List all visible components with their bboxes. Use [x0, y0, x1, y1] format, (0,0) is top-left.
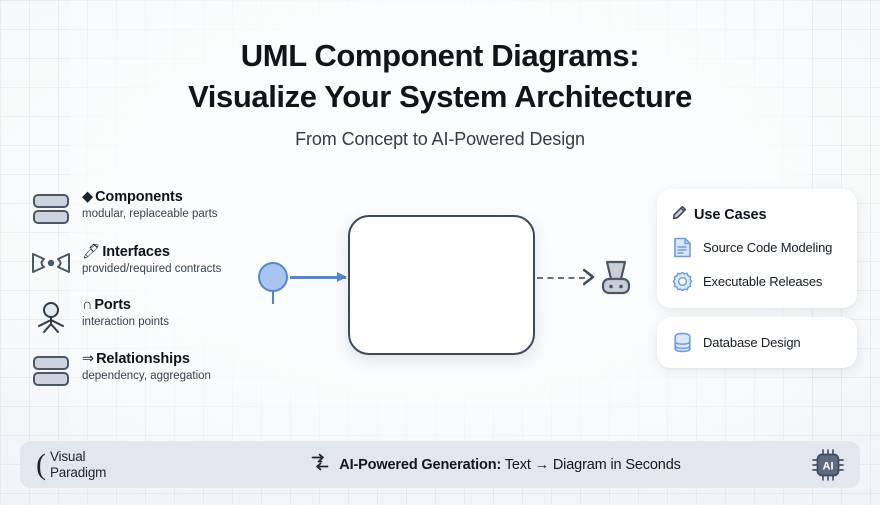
feature-body: 🖊Interfaces provided/required contracts: [82, 242, 221, 277]
feature-symbol: ◆: [82, 189, 93, 205]
feature-title-text: Ports: [94, 297, 131, 313]
component-stack-icon: [30, 188, 72, 226]
feature-symbol: ∩: [82, 297, 92, 313]
pen-icon: [672, 205, 687, 224]
feature-title: ⇒Relationships: [82, 351, 211, 367]
feature-desc: modular, replaceable parts: [82, 207, 218, 222]
feature-title: 🖊Interfaces: [82, 243, 221, 260]
dependency-arrowhead-icon: [583, 268, 595, 286]
page-title-line2: Visualize Your System Architecture: [0, 77, 880, 118]
bottom-bar-message: AI-Powered Generation: Text → Diagram in…: [181, 452, 810, 477]
use-cases-heading-text: Use Cases: [694, 207, 766, 223]
page-title-line1: UML Component Diagrams:: [0, 36, 880, 77]
bottom-bar-text-bold: AI-Powered Generation:: [339, 457, 501, 473]
feature-list: ◆Components modular, replaceable parts 🖊…: [30, 188, 260, 388]
feature-symbol: ⇒: [82, 351, 94, 367]
feature-title-text: Components: [95, 189, 183, 205]
database-icon: [672, 332, 693, 353]
feature-symbol: 🖊: [82, 244, 100, 260]
bottom-bar: ( Visual Paradigm AI-Powered Generation:…: [20, 441, 860, 488]
page-header: UML Component Diagrams: Visualize Your S…: [0, 36, 880, 150]
lollipop-stem: [272, 290, 274, 304]
database-design-card: Database Design: [657, 317, 857, 368]
page-subtitle: From Concept to AI-Powered Design: [0, 129, 880, 150]
component-diagram: [250, 200, 650, 385]
use-case-item-database-design[interactable]: Database Design: [672, 332, 842, 353]
use-case-label: Source Code Modeling: [703, 240, 832, 255]
feature-body: ◆Components modular, replaceable parts: [82, 188, 218, 222]
use-case-item-source-code-modeling[interactable]: Source Code Modeling: [672, 237, 842, 258]
logo-wordmark: Visual Paradigm: [50, 449, 106, 479]
logo-arc-icon: (: [36, 454, 46, 476]
feature-body: ⇒Relationships dependency, aggregation: [82, 350, 211, 384]
ball-socket-interface-icon: [30, 242, 72, 280]
use-case-item-executable-releases[interactable]: Executable Releases: [672, 271, 842, 292]
feature-title: ◆Components: [82, 189, 218, 205]
robot-artifact-icon: [598, 259, 634, 297]
document-icon: [672, 237, 693, 258]
poster-canvas: UML Component Diagrams: Visualize Your S…: [0, 0, 880, 505]
feature-body: ∩Ports interaction points: [82, 296, 169, 330]
bottom-bar-text-rest: Text → Diagram in Seconds: [501, 457, 681, 473]
feature-desc: interaction points: [82, 315, 169, 330]
ai-chip-icon[interactable]: AI: [810, 447, 846, 483]
ai-chip-label: AI: [823, 460, 834, 472]
feature-title-text: Interfaces: [102, 244, 170, 260]
use-cases-heading: Use Cases: [672, 205, 842, 224]
feature-title: ∩Ports: [82, 297, 169, 313]
feature-item-relationships: ⇒Relationships dependency, aggregation: [30, 350, 260, 388]
feature-desc: provided/required contracts: [82, 262, 221, 277]
logo-line2: Paradigm: [50, 465, 106, 480]
bottom-bar-text: AI-Powered Generation: Text → Diagram in…: [339, 457, 680, 473]
use-case-label: Database Design: [703, 335, 800, 350]
feature-item-interfaces: 🖊Interfaces provided/required contracts: [30, 242, 260, 280]
right-column: Use Cases Source Code Modeling: [657, 189, 857, 368]
feature-item-components: ◆Components modular, replaceable parts: [30, 188, 260, 226]
component-stack-icon: [30, 350, 72, 388]
interface-connector-arrow: [290, 276, 346, 279]
use-cases-card: Use Cases Source Code Modeling: [657, 189, 857, 308]
provided-interface-lollipop-icon: [258, 262, 288, 292]
dependency-dashed-line: [537, 277, 585, 279]
feature-item-ports: ∩Ports interaction points: [30, 296, 260, 334]
use-case-label: Executable Releases: [703, 274, 822, 289]
feature-desc: dependency, aggregation: [82, 369, 211, 384]
gear-icon: [672, 271, 693, 292]
actor-icon: [30, 296, 72, 334]
logo-line1: Visual: [50, 449, 85, 464]
transform-arrows-icon: [310, 452, 330, 477]
component-box[interactable]: [348, 215, 535, 355]
feature-title-text: Relationships: [96, 351, 190, 367]
